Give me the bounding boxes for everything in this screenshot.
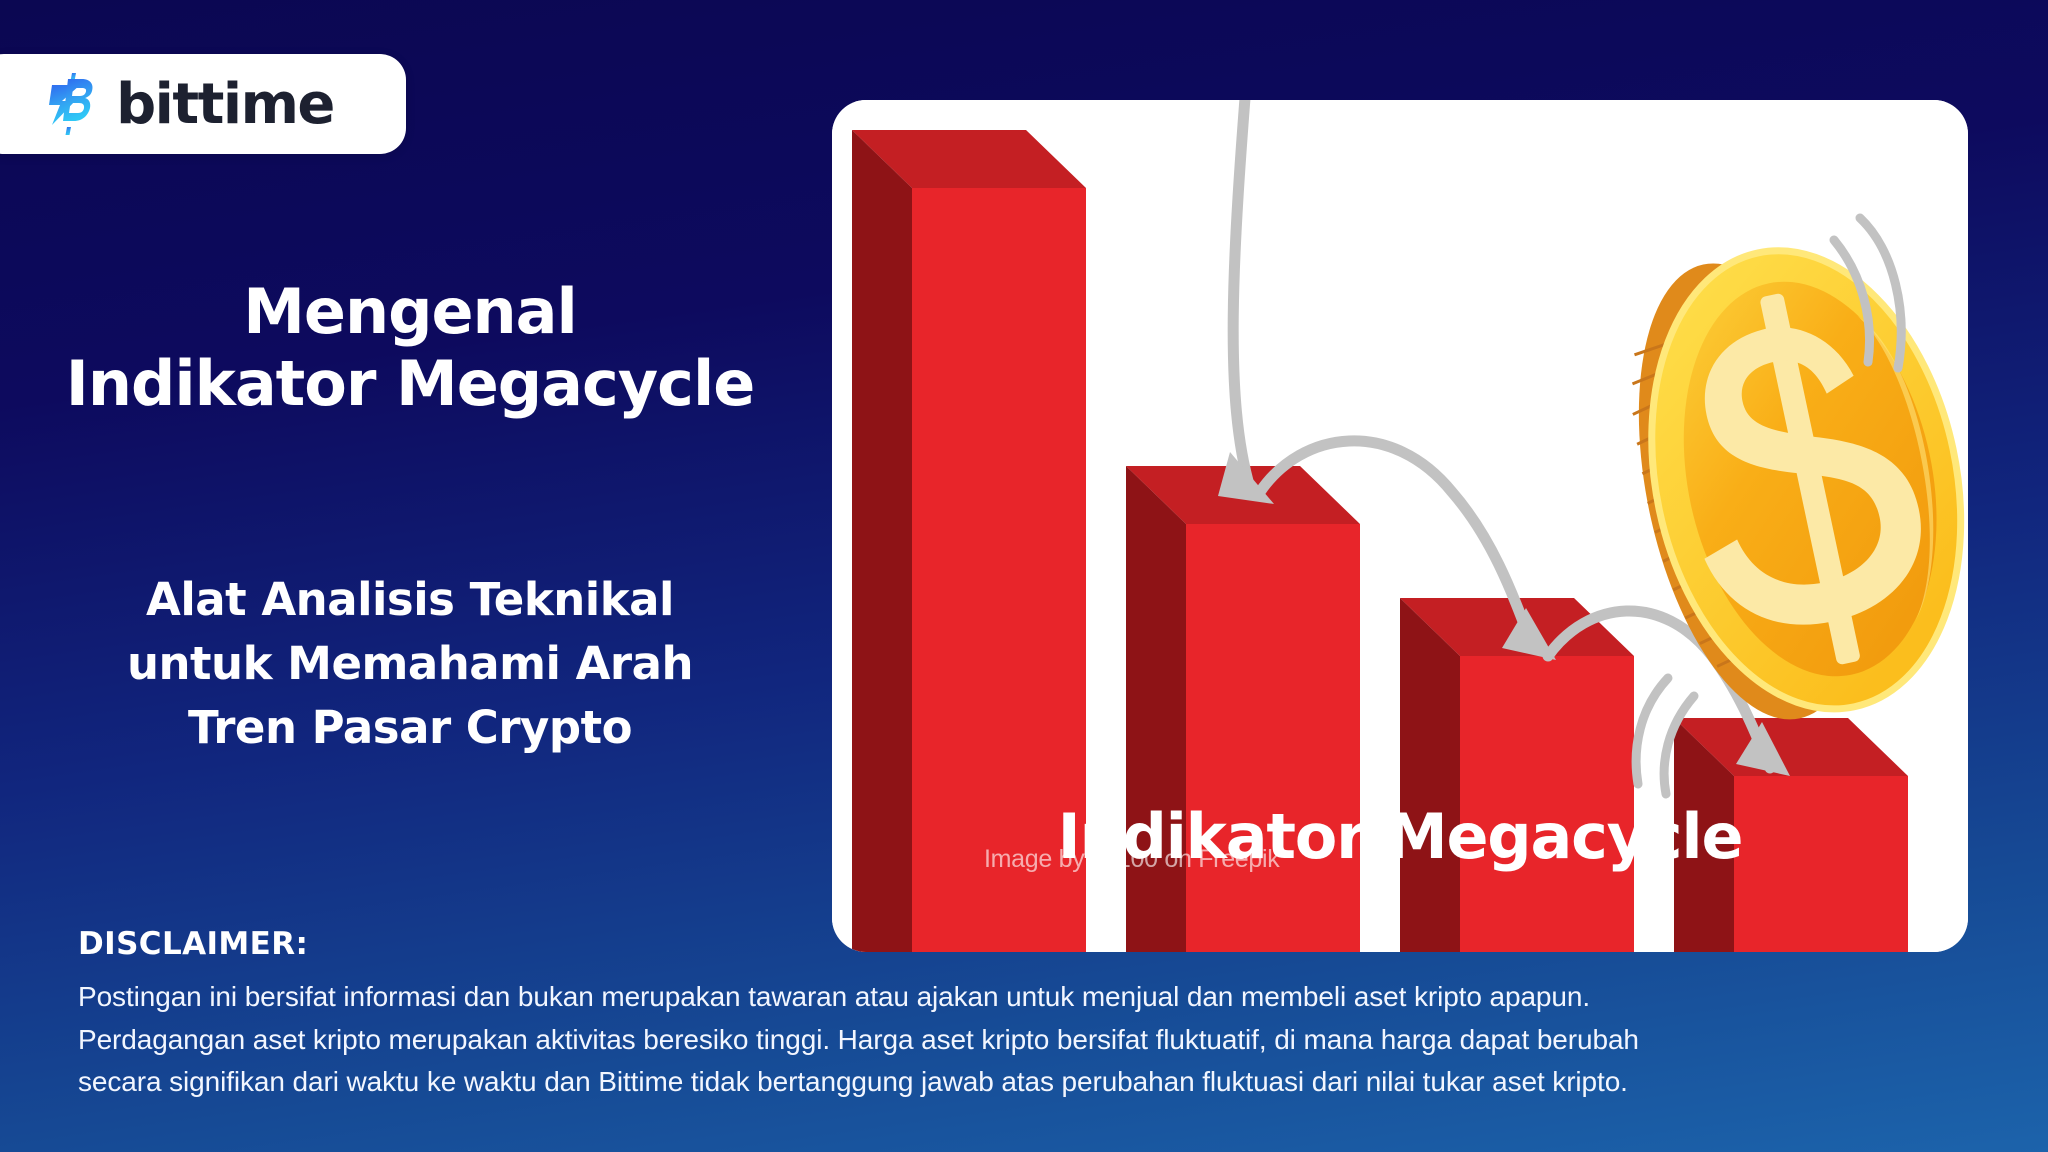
page-title: Mengenal Indikator Megacycle <box>0 276 820 420</box>
page-subtitle: Alat Analisis Teknikal untuk Memahami Ar… <box>0 568 820 760</box>
disclaimer-line-1: Postingan ini bersifat informasi dan buk… <box>78 976 1978 1019</box>
page-title-line-2: Indikator Megacycle <box>0 348 820 420</box>
disclaimer-body: Postingan ini bersifat informasi dan buk… <box>78 976 1978 1104</box>
bittime-b-mark-icon <box>40 71 102 137</box>
disclaimer-line-2: Perdagangan aset kripto merupakan aktivi… <box>78 1019 1978 1062</box>
descending-bar-chart-illustration <box>832 100 1968 952</box>
disclaimer-block: DISCLAIMER: Postingan ini bersifat infor… <box>78 926 1978 1104</box>
page-subtitle-line-2: untuk Memahami Arah <box>0 632 820 696</box>
page-subtitle-line-3: Tren Pasar Crypto <box>0 696 820 760</box>
illustration-card: Indikator Megacycle Image by xb100 on Fr… <box>832 100 1968 952</box>
poster-canvas: bittime Mengenal Indikator Megacycle Ala… <box>0 0 2048 1152</box>
bar-4 <box>1674 718 1908 952</box>
brand-logo-badge[interactable]: bittime <box>0 54 406 154</box>
page-title-line-1: Mengenal <box>0 276 820 348</box>
disclaimer-line-3: secara signifikan dari waktu ke waktu da… <box>78 1061 1978 1104</box>
bar-1 <box>852 130 1086 952</box>
page-subtitle-line-1: Alat Analisis Teknikal <box>0 568 820 632</box>
bar-2 <box>1126 466 1360 952</box>
brand-wordmark: bittime <box>116 77 374 133</box>
